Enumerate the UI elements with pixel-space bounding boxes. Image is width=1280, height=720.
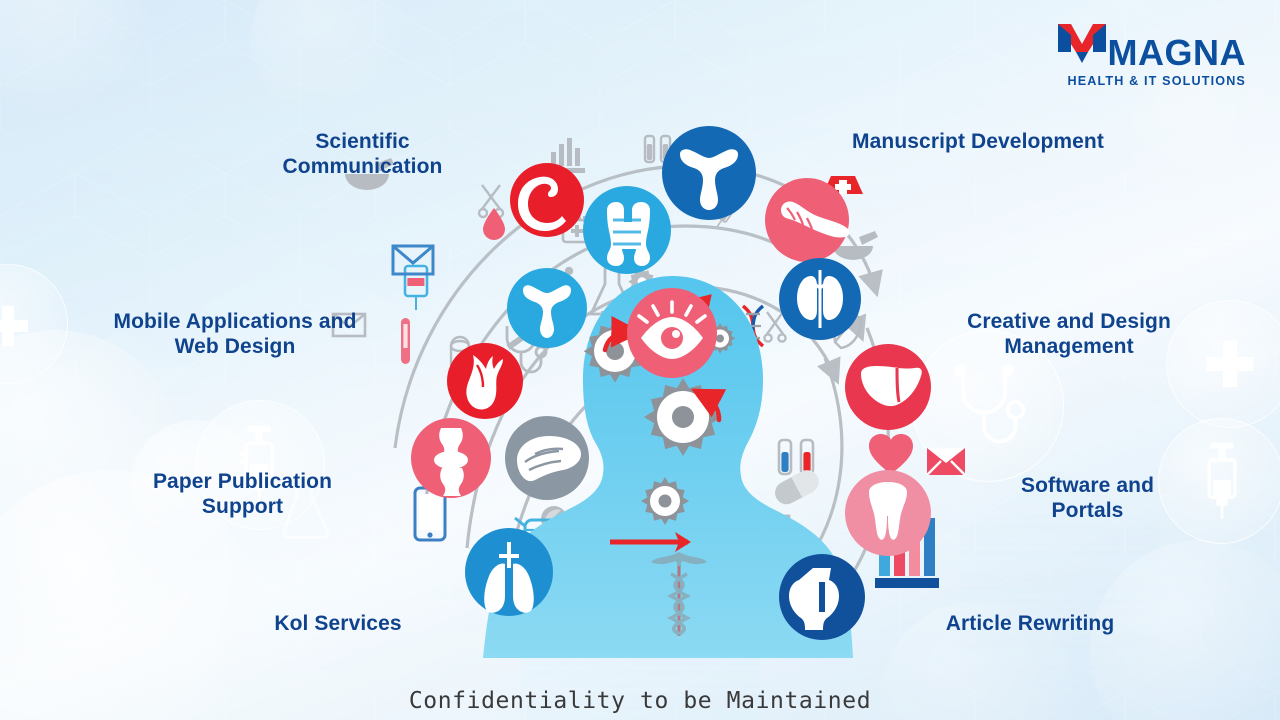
lungs-icon bbox=[465, 528, 553, 616]
intestine-icon bbox=[583, 186, 671, 274]
confidentiality-caption: Confidentiality to be Maintained bbox=[0, 688, 1280, 714]
medical-cross-watermark-icon bbox=[0, 300, 34, 352]
brain-icon bbox=[505, 416, 589, 500]
liver-icon bbox=[845, 344, 931, 430]
knee-joint-icon bbox=[411, 418, 491, 498]
eye-icon bbox=[627, 288, 717, 378]
pancreas-icon bbox=[765, 178, 849, 262]
kidneys-icon bbox=[779, 258, 861, 340]
service-label-mobile-applications-and-web-design: Mobile Applications and Web Design bbox=[85, 310, 385, 360]
tooth-icon bbox=[845, 470, 931, 556]
syringe-watermark-icon-right bbox=[1190, 440, 1254, 520]
heart-small-icon bbox=[869, 434, 913, 474]
service-label-software-and-portals: Software and Portals bbox=[990, 474, 1185, 524]
logo-wordmark: MAGNA bbox=[1056, 22, 1246, 69]
thyroid-icon bbox=[779, 554, 865, 640]
medical-cross-watermark-icon-right bbox=[1202, 336, 1258, 392]
heart-icon bbox=[447, 343, 523, 419]
infographic-slide: MAGNA HEALTH & IT SOLUTIONS bbox=[0, 0, 1280, 720]
magna-logo: MAGNA HEALTH & IT SOLUTIONS bbox=[1056, 22, 1246, 88]
thermometer-icon bbox=[401, 318, 410, 364]
service-label-article-rewriting: Article Rewriting bbox=[930, 612, 1130, 637]
scissors-icon-right bbox=[764, 312, 785, 342]
logo-mark-icon bbox=[1056, 22, 1108, 69]
bladder-icon bbox=[662, 126, 756, 220]
service-label-creative-and-design-management: Creative and Design Management bbox=[938, 310, 1200, 360]
service-label-scientific-communication: Scientific Communication bbox=[240, 130, 485, 180]
blood-vials-icon-right bbox=[779, 440, 813, 474]
service-label-kol-services: Kol Services bbox=[248, 612, 428, 637]
medical-infographic-artwork bbox=[355, 118, 975, 698]
watermark-ring-left-cross bbox=[0, 264, 68, 384]
logo-name: MAGNA bbox=[1108, 36, 1246, 69]
logo-tagline: HEALTH & IT SOLUTIONS bbox=[1056, 74, 1246, 88]
stomach-icon bbox=[510, 163, 584, 237]
service-label-paper-publication-support: Paper Publication Support bbox=[125, 470, 360, 520]
uterus-icon bbox=[507, 268, 587, 348]
envelope-icon-red bbox=[927, 448, 965, 475]
service-label-manuscript-development: Manuscript Development bbox=[828, 130, 1128, 155]
